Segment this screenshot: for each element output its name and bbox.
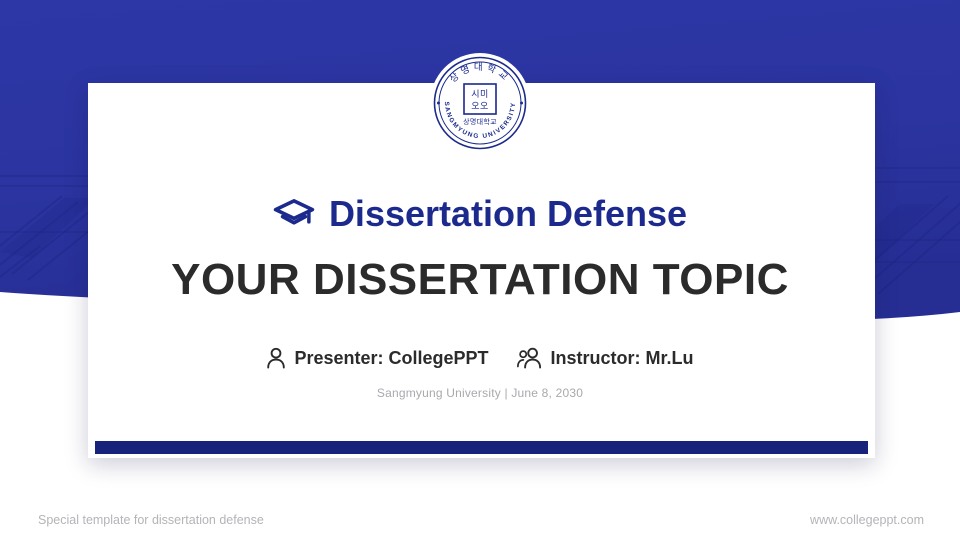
page-title: Dissertation Defense [329,196,687,232]
presenter-item: Presenter: CollegePPT [266,347,488,369]
seal-emblem-glyphs: 시미 [471,89,489,100]
seal-emblem-glyphs-2: 오오 [471,101,489,112]
people-group-icon [517,347,543,369]
person-icon [266,347,286,369]
university-seal-icon: 상명대학교 시미 오오 상명대학교 SANGMYUNG UNIVERSITY [429,52,531,154]
card-accent-bar [95,441,868,454]
dissertation-topic: YOUR DISSERTATION TOPIC [0,256,960,304]
graduation-cap-icon [273,193,315,235]
people-row: Presenter: CollegePPT Instructor: Mr.Lu [0,347,960,369]
instructor-label: Instructor: Mr.Lu [551,348,694,369]
seal-subtitle-korean: 상명대학교 [463,117,497,126]
footer-note: Special template for dissertation defens… [38,513,264,527]
footer-website: www.collegeppt.com [810,513,924,527]
presenter-label: Presenter: CollegePPT [294,348,488,369]
university-date-line: Sangmyung University | June 8, 2030 [0,386,960,400]
presentation-slide: 상명대학교 시미 오오 상명대학교 SANGMYUNG UNIVERSITY D… [0,0,960,540]
instructor-item: Instructor: Mr.Lu [517,347,694,369]
main-title-row: Dissertation Defense [0,193,960,235]
